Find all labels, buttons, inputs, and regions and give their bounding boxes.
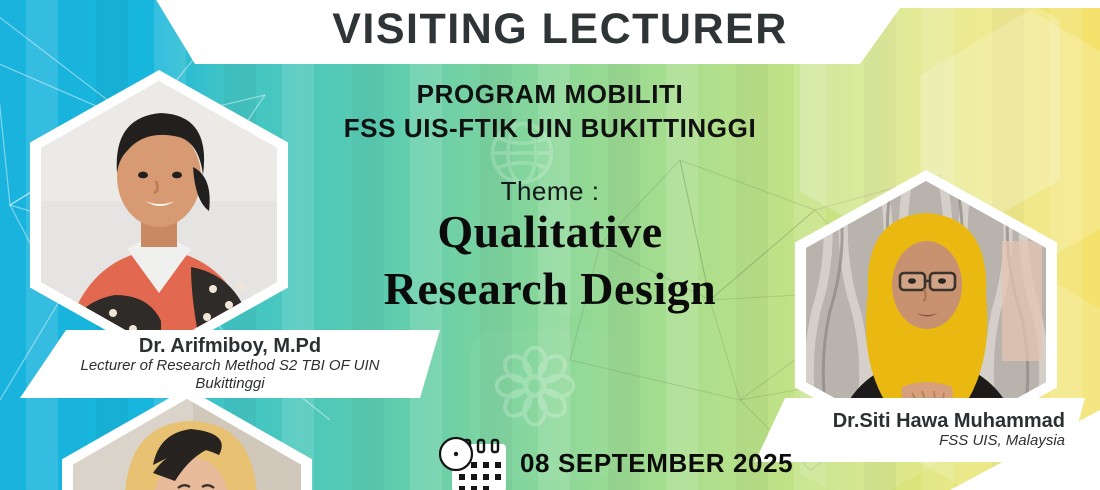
program-line-1: PROGRAM MOBILITI bbox=[0, 79, 1100, 110]
speaker-2-name: Dr.Siti Hawa Muhammad bbox=[833, 411, 1065, 432]
speaker-1-nameplate-text: Dr. Arifmiboy, M.Pd Lecturer of Research… bbox=[20, 330, 440, 398]
date-row: 08 SEPTEMBER 2025 bbox=[438, 436, 793, 490]
title-banner-text-wrap: VISITING LECTURER bbox=[0, 0, 1100, 62]
event-date: 08 SEPTEMBER 2025 bbox=[520, 448, 793, 479]
theme-line-1: Qualitative bbox=[0, 205, 1100, 258]
program-line-2: FSS UIS-FTIK UIN BUKITTINGGI bbox=[0, 113, 1100, 144]
speaker-1-role-line-2: Bukittinggi bbox=[195, 375, 264, 393]
theme-line-2: Research Design bbox=[0, 262, 1100, 315]
theme-label: Theme : bbox=[0, 176, 1100, 207]
flower-rosette-icon bbox=[487, 338, 583, 434]
speaker-1-role-line-1: Lecturer of Research Method S2 TBI OF UI… bbox=[80, 357, 379, 375]
speaker-2-role-line-1: FSS UIS, Malaysia bbox=[939, 432, 1065, 450]
speaker-2-nameplate-text: Dr.Siti Hawa Muhammad FSS UIS, Malaysia bbox=[755, 398, 1085, 462]
page-title: VISITING LECTURER bbox=[332, 5, 788, 54]
poster-canvas: VISITING LECTURER PROGRAM MOBILITI FSS U… bbox=[0, 0, 1100, 490]
speaker-1-name: Dr. Arifmiboy, M.Pd bbox=[139, 336, 321, 357]
calendar-icon bbox=[438, 436, 508, 490]
